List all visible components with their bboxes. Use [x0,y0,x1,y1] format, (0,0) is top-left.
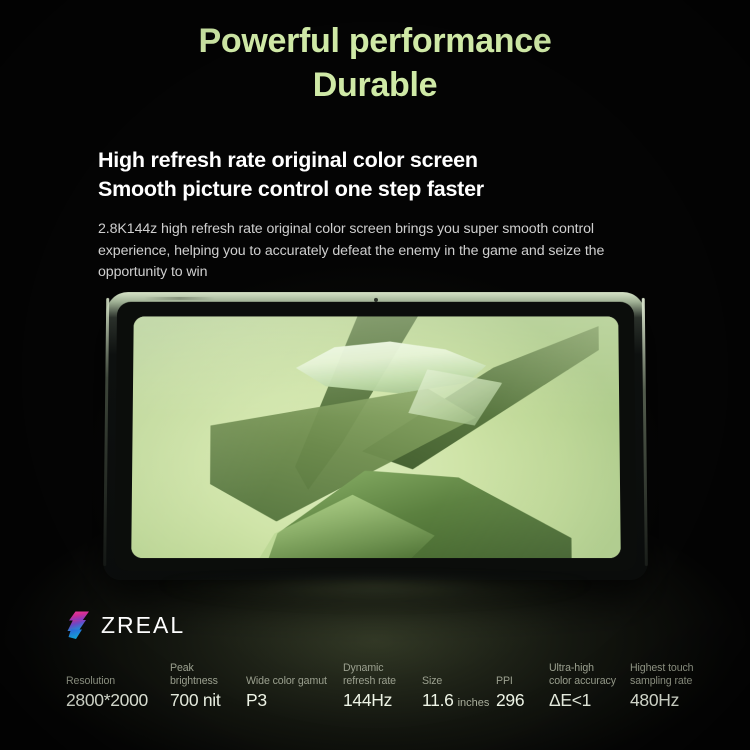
surface-reflection [150,582,600,630]
spec-item: Size 11.6inches [422,675,496,710]
spec-value-text: 11.6 [422,690,454,710]
spec-label: Size [422,675,496,688]
spec-label: Resolution [66,675,170,688]
spec-value-text: P3 [246,690,267,710]
spec-item: Dynamic refresh rate 144Hz [343,662,422,710]
spec-value: 700 nit [170,692,246,710]
copy-block: High refresh rate original color screen … [98,146,618,284]
tablet-inner-bezel [114,302,637,571]
tablet-device [103,292,648,580]
spec-strip: Resolution 2800*2000 Peak brightness 700… [66,662,706,710]
zreal-logo-icon [66,610,92,640]
speaker-grille [144,297,215,300]
spec-value-text: 144Hz [343,690,392,710]
wallpaper [131,316,621,558]
spec-label: Wide color gamut [246,675,343,688]
spec-item: Highest touch sampling rate 480Hz [630,662,706,710]
subheading-line-2: Smooth picture control one step faster [98,175,618,204]
hero-line-2: Durable [0,64,750,108]
tablet-screen [131,316,621,558]
spec-item: Resolution 2800*2000 [66,675,170,710]
product-image-stage [0,282,750,602]
spec-item: Wide color gamut P3 [246,675,343,710]
subheading-line-1: High refresh rate original color screen [98,146,618,175]
spec-value: ΔE<1 [549,692,630,710]
spec-value-text: 296 [496,690,524,710]
spec-value: 296 [496,692,549,710]
spec-value-text: ΔE<1 [549,690,591,710]
hero-headline: Powerful performance Durable [0,20,750,107]
spec-value: 480Hz [630,692,706,710]
spec-label: Peak brightness [170,662,246,688]
brand-name: ZREAL [101,612,185,639]
spec-value: 2800*2000 [66,692,170,710]
spec-item: Ultra-high color accuracy ΔE<1 [549,662,630,710]
spec-value: P3 [246,692,343,710]
spec-label: Highest touch sampling rate [630,662,706,688]
spec-label: PPI [496,675,549,688]
spec-label: Dynamic refresh rate [343,662,422,688]
spec-label: Ultra-high color accuracy [549,662,630,688]
spec-item: Peak brightness 700 nit [170,662,246,710]
spec-value: 11.6inches [422,692,496,710]
wallpaper-sheen [131,316,621,558]
spec-value: 144Hz [343,692,422,710]
body-paragraph: 2.8K144z high refresh rate original colo… [98,219,618,284]
brand-lockup: ZREAL [66,610,185,640]
spec-item: PPI 296 [496,675,549,710]
spec-value-text: 480Hz [630,690,679,710]
spec-value-text: 700 nit [170,690,220,710]
spec-value-text: 2800*2000 [66,690,148,710]
hero-line-1: Powerful performance [0,20,750,64]
spec-unit: inches [458,697,490,709]
